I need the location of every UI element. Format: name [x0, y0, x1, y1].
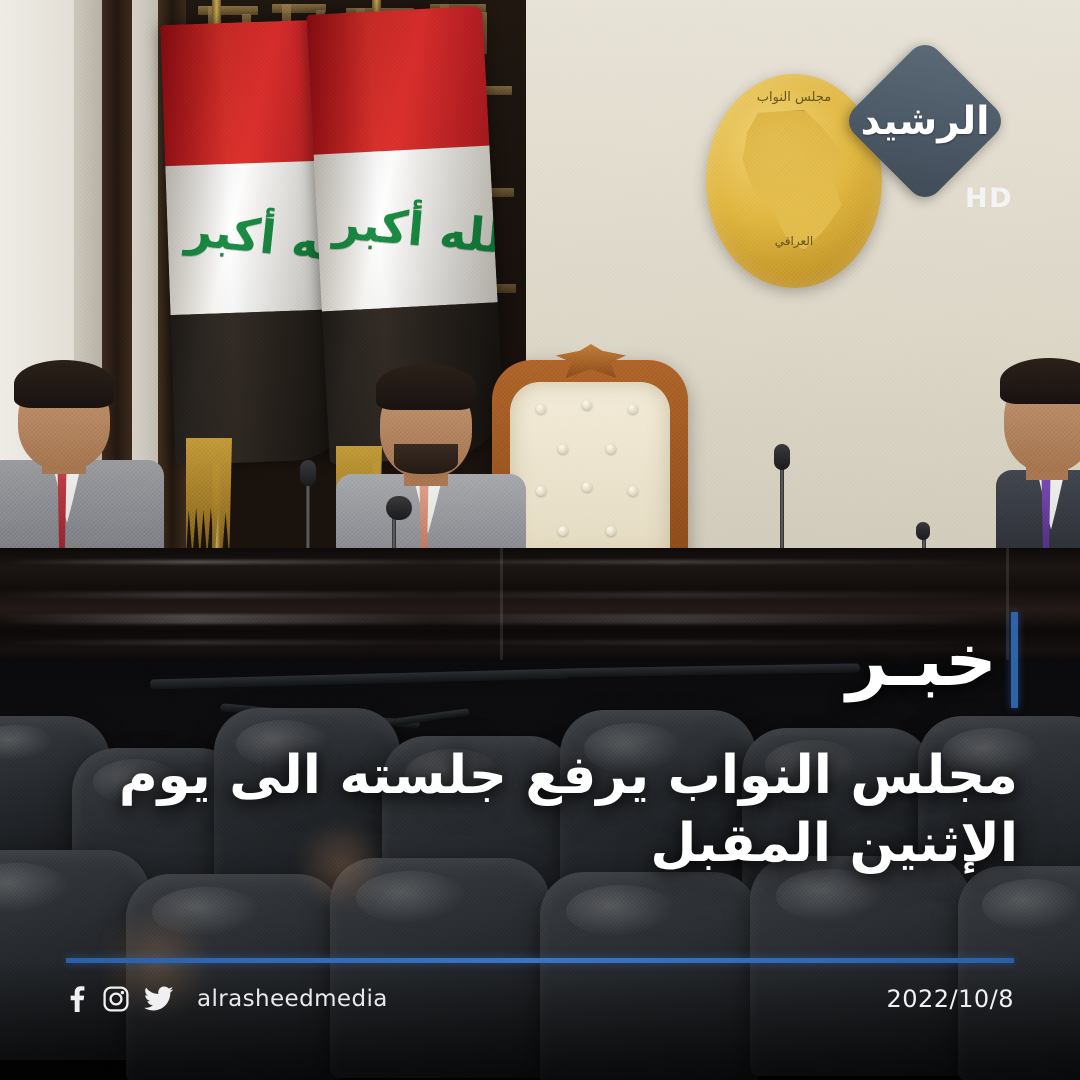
footer-divider — [66, 958, 1014, 963]
microphone-head-1 — [300, 460, 316, 486]
footer: alrasheedmedia 2022/10/8 — [66, 978, 1014, 1020]
official-left — [0, 356, 164, 560]
kicker-accent-bar — [1011, 612, 1018, 708]
official-right — [996, 352, 1080, 560]
publish-date: 2022/10/8 — [886, 985, 1014, 1013]
microphone-head-4 — [916, 522, 930, 540]
twitter-icon[interactable] — [144, 986, 174, 1012]
social-handle: alrasheedmedia — [189, 986, 388, 1012]
kicker-label: خبـر — [846, 624, 997, 696]
microphone-head-2 — [386, 496, 412, 520]
headline-line-2: الإثنين المقبل — [158, 810, 1018, 878]
social-links: alrasheedmedia — [66, 986, 388, 1012]
instagram-icon[interactable] — [103, 986, 129, 1012]
speaker-center — [336, 362, 526, 560]
news-card: الله أكبر الله أكبر مجلس النواب العراقي — [0, 0, 1080, 1080]
hd-badge: HD — [965, 183, 1013, 214]
headline-line-1: مجلس النواب يرفع جلسته الى يوم — [158, 742, 1018, 810]
headline: مجلس النواب يرفع جلسته الى يوم الإثنين ا… — [158, 742, 1018, 878]
kicker-row: خبـر — [846, 612, 1018, 708]
emblem-bottom-text: العراقي — [732, 234, 856, 274]
microphone-head-3 — [774, 444, 790, 470]
alrasheed-logo[interactable]: الرشيد — [866, 62, 984, 180]
facebook-icon[interactable] — [66, 986, 88, 1012]
logo-wordmark: الرشيد — [866, 62, 984, 180]
